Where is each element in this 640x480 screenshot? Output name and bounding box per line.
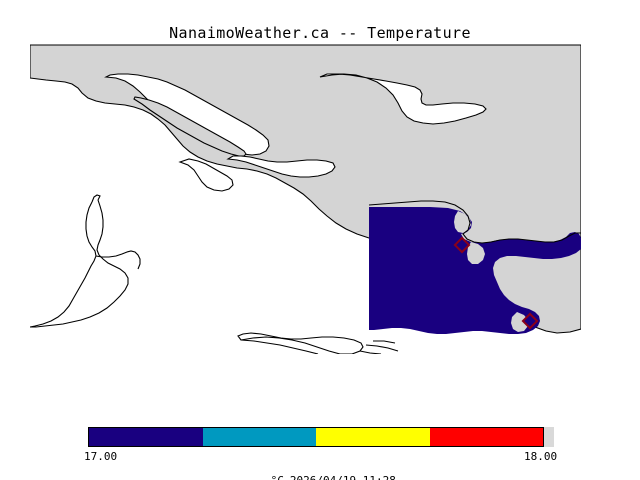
- colorbar-segment-cyan[interactable]: [203, 428, 317, 446]
- colorbar-segment-red[interactable]: [430, 428, 544, 446]
- map-panel[interactable]: [30, 44, 581, 354]
- unit-label: °C: [271, 474, 284, 480]
- colorbar-segment-yellow[interactable]: [316, 428, 430, 446]
- weather-map-page: NanaimoWeather.ca -- Temperature: [0, 0, 640, 480]
- colorbar-overflow-cap: [544, 427, 554, 447]
- map-canvas[interactable]: [30, 44, 581, 354]
- page-title: NanaimoWeather.ca -- Temperature: [0, 24, 640, 42]
- colorbar[interactable]: [88, 427, 554, 447]
- colorbar-caption: °C2026/04/19 11:28: [0, 461, 640, 480]
- colorbar-segment-navy[interactable]: [89, 428, 203, 446]
- timestamp-label: 2026/04/19 11:28: [290, 474, 396, 480]
- colorbar-track[interactable]: [88, 427, 544, 447]
